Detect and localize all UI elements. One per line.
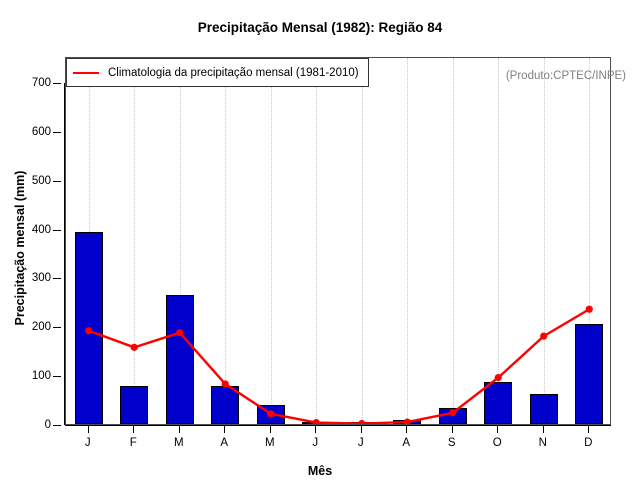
y-axis-tick-label: 300 — [32, 272, 51, 284]
y-axis-tick-mark — [53, 278, 61, 279]
y-axis-tick-label: 0 — [45, 419, 51, 431]
x-axis-tick-label: J — [312, 437, 318, 449]
x-axis-tick-label: S — [448, 437, 456, 449]
x-axis-tick-mark — [315, 426, 316, 433]
y-axis-label: Precipitação mensal (mm) — [13, 138, 27, 358]
y-axis: 0100200300400500600700 — [0, 0, 65, 500]
y-axis-tick-mark — [53, 425, 61, 426]
x-axis-tick-mark — [133, 426, 134, 433]
x-axis-tick-mark — [497, 426, 498, 433]
data-point-marker — [131, 344, 138, 351]
x-axis-tick-mark — [179, 426, 180, 433]
data-point-marker — [85, 327, 92, 334]
x-axis-tick-label: A — [220, 437, 228, 449]
legend-line-swatch-icon — [73, 72, 99, 74]
y-axis-tick-label: 600 — [32, 126, 51, 138]
legend: Climatologia da precipitação mensal (198… — [66, 58, 369, 87]
plot-area — [65, 57, 611, 425]
y-axis-tick-label: 400 — [32, 224, 51, 236]
x-axis-tick-label: F — [130, 437, 137, 449]
y-axis-tick-mark — [53, 327, 61, 328]
climatology-polyline — [89, 309, 590, 423]
x-axis-tick-label: J — [358, 437, 364, 449]
precipitation-chart-figure: Precipitação Mensal (1982): Região 84 01… — [0, 0, 640, 500]
x-axis-tick-mark — [270, 426, 271, 433]
x-axis-tick-label: J — [85, 437, 91, 449]
y-axis-tick-label: 700 — [32, 77, 51, 89]
data-point-marker — [267, 410, 274, 417]
x-axis-tick-mark — [543, 426, 544, 433]
x-axis-tick-mark — [588, 426, 589, 433]
x-axis-label: Mês — [0, 464, 640, 478]
x-axis-tick-label: O — [493, 437, 502, 449]
x-axis-tick-label: D — [584, 437, 592, 449]
climatology-line-series — [66, 58, 611, 425]
data-point-marker — [176, 329, 183, 336]
data-point-marker — [222, 380, 229, 387]
x-axis-tick-label: N — [539, 437, 547, 449]
data-point-marker — [449, 409, 456, 416]
y-axis-tick-mark — [53, 132, 61, 133]
y-axis-tick-label: 500 — [32, 175, 51, 187]
y-axis-tick-label: 200 — [32, 321, 51, 333]
x-axis-tick-mark — [88, 426, 89, 433]
data-point-marker — [540, 333, 547, 340]
x-axis-tick-label: A — [402, 437, 410, 449]
data-point-marker — [495, 374, 502, 381]
y-axis-tick-mark — [53, 181, 61, 182]
x-axis-tick-mark — [361, 426, 362, 433]
x-axis-tick-mark — [452, 426, 453, 433]
x-axis-tick-label: M — [265, 437, 275, 449]
data-point-marker — [586, 306, 593, 313]
y-axis-tick-label: 100 — [32, 370, 51, 382]
x-axis-tick-mark — [224, 426, 225, 433]
y-axis-tick-mark — [53, 83, 61, 84]
x-axis-line — [65, 425, 611, 426]
y-axis-tick-mark — [53, 376, 61, 377]
source-annotation: (Produto:CPTEC/INPE) — [506, 70, 626, 82]
x-axis-tick-label: M — [174, 437, 184, 449]
y-axis-tick-mark — [53, 230, 61, 231]
legend-item-label: Climatologia da precipitação mensal (198… — [108, 67, 359, 79]
x-axis-tick-mark — [406, 426, 407, 433]
page-title: Precipitação Mensal (1982): Região 84 — [0, 20, 640, 35]
